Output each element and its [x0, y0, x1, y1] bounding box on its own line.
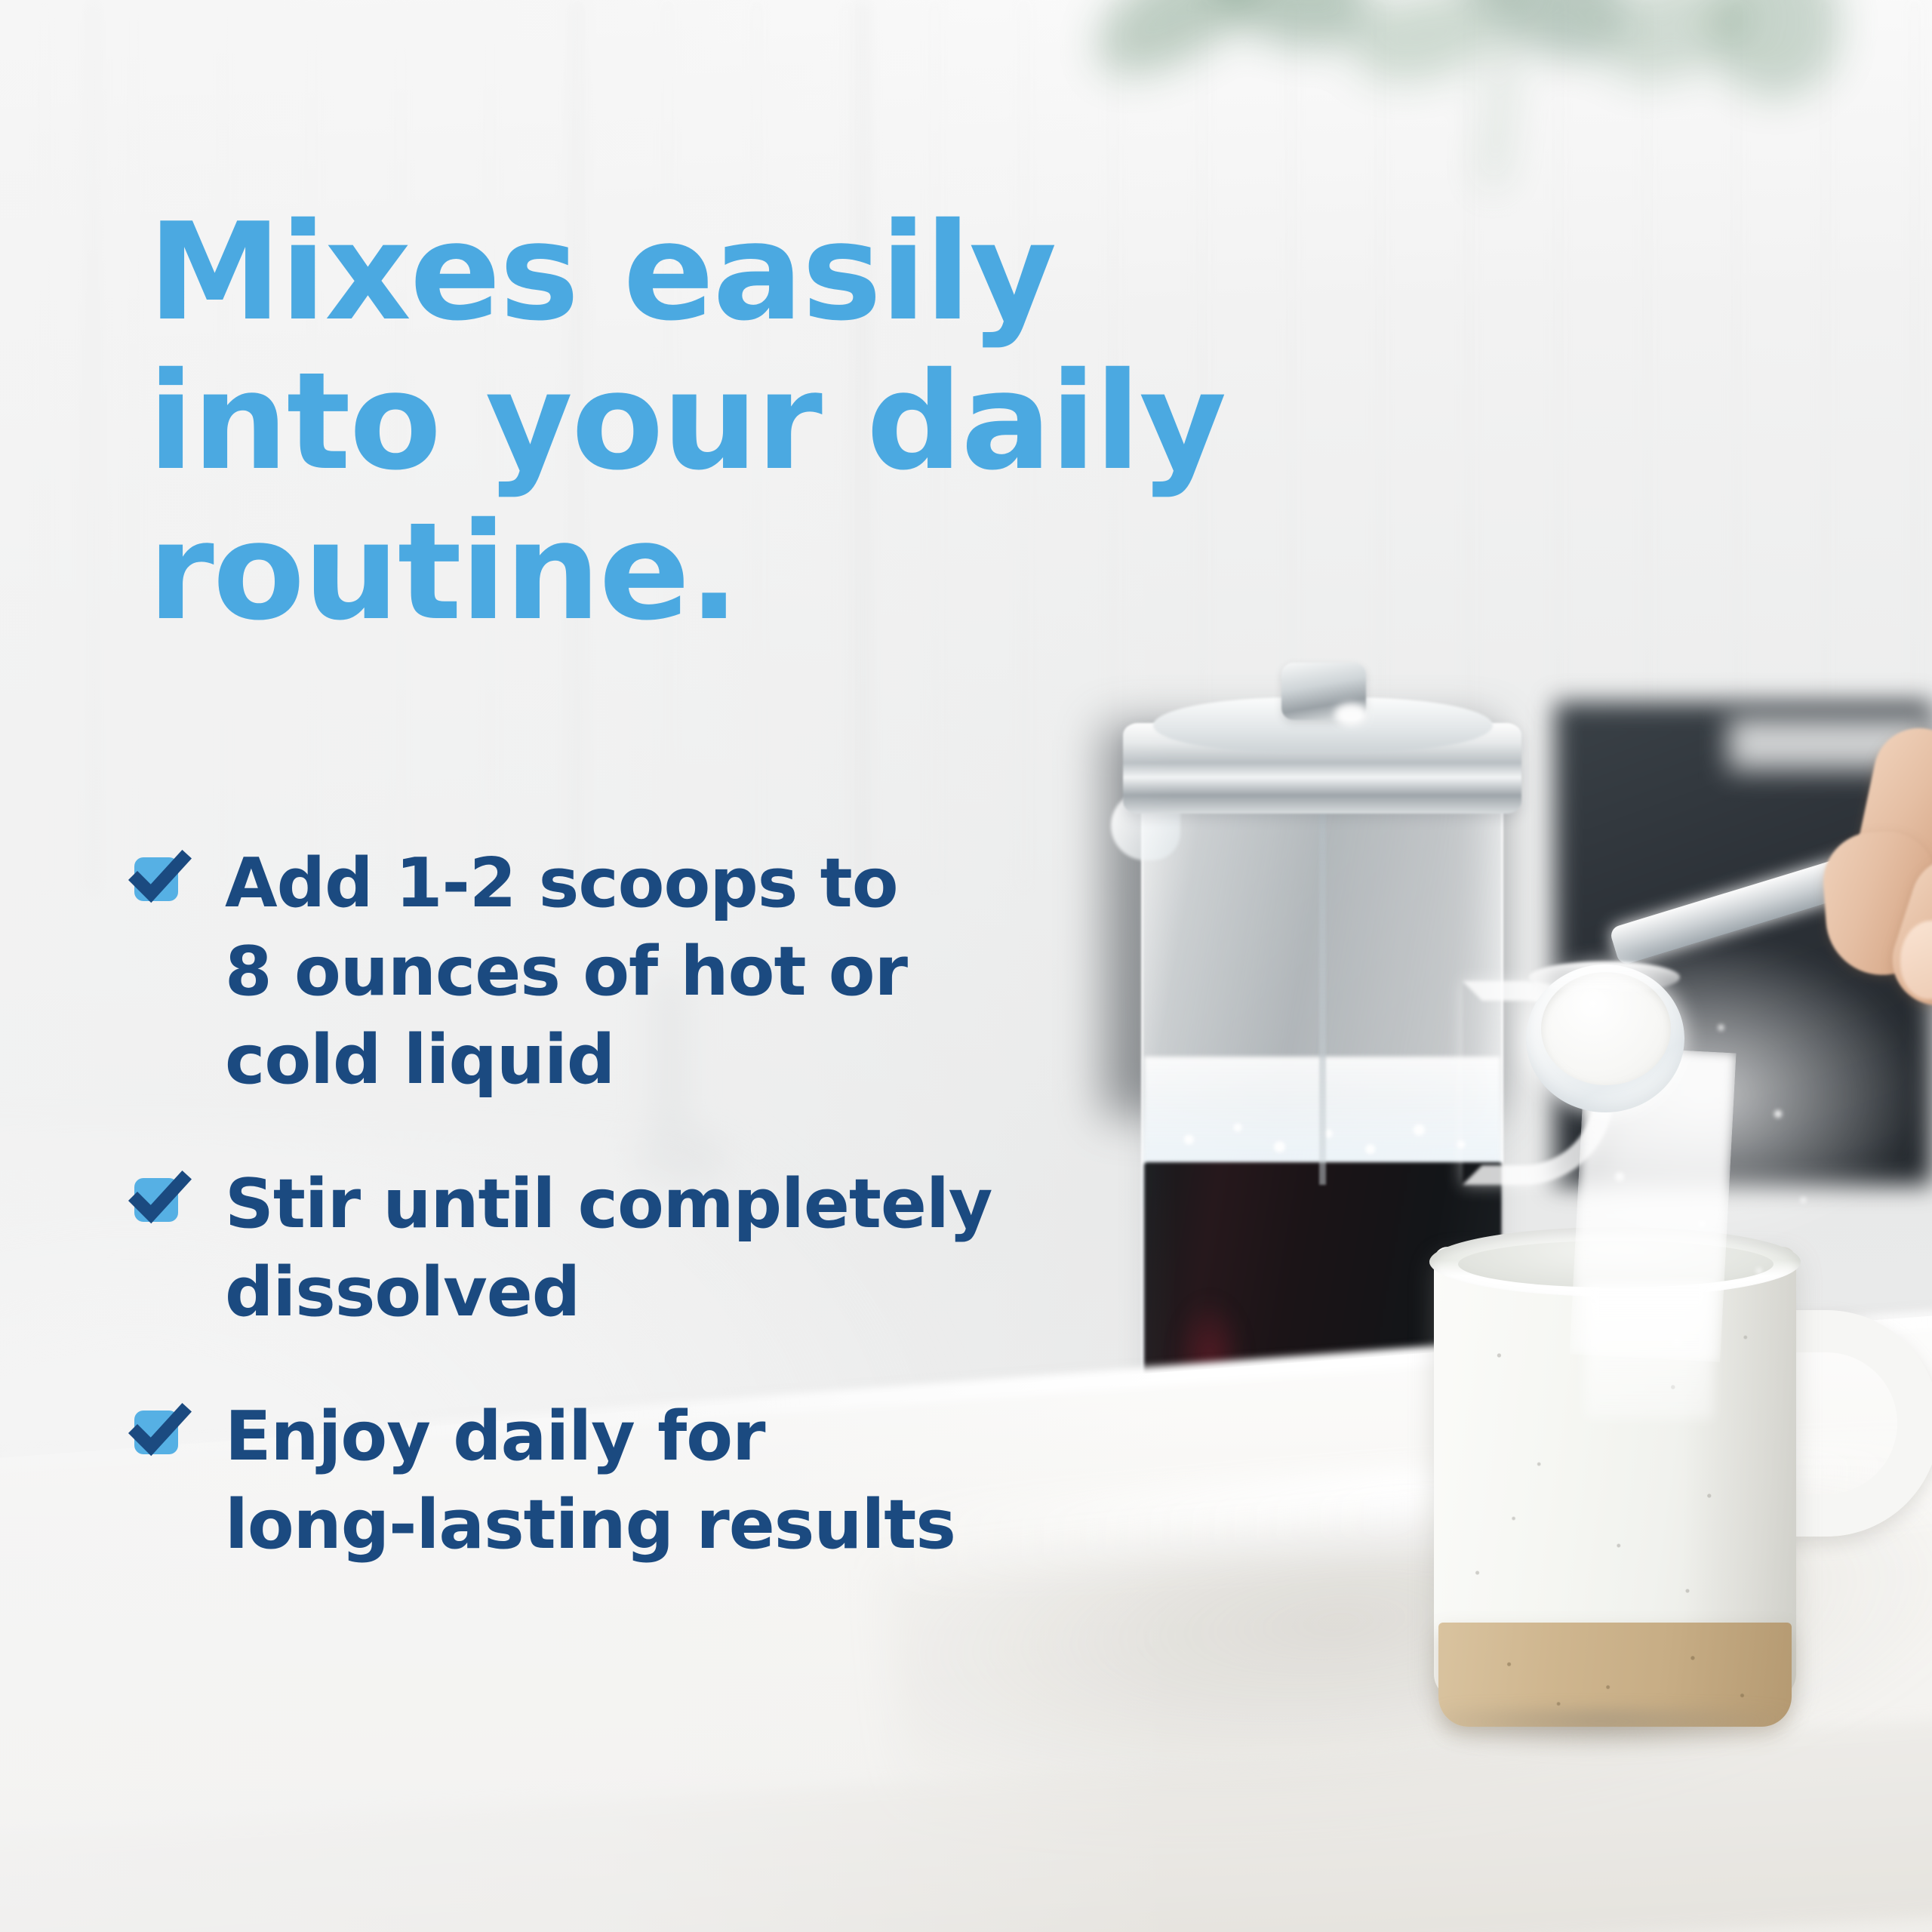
check-icon [134, 857, 178, 901]
check-icon [134, 1178, 178, 1222]
list-item: Stir until completely dissolved [134, 1160, 1115, 1337]
promo-graphic: Mixes easily into your daily routine. Ad… [0, 0, 1932, 1932]
list-item-label: Enjoy daily for long-lasting results [225, 1392, 955, 1569]
list-item-label: Stir until completely dissolved [225, 1160, 992, 1337]
headline-line-2: into your daily [148, 347, 1521, 497]
headline-line-1: Mixes easily [148, 198, 1521, 347]
list-item: Add 1-2 scoops to 8 ounces of hot or col… [134, 839, 1115, 1104]
page-title: Mixes easily into your daily routine. [148, 198, 1521, 647]
check-icon [134, 1411, 178, 1454]
list-item: Enjoy daily for long-lasting results [134, 1392, 1115, 1569]
list-item-label: Add 1-2 scoops to 8 ounces of hot or col… [225, 839, 907, 1104]
headline-line-3: routine. [148, 497, 1521, 647]
overlay-content: Mixes easily into your daily routine. Ad… [0, 0, 1932, 1932]
instruction-list: Add 1-2 scoops to 8 ounces of hot or col… [134, 839, 1115, 1569]
